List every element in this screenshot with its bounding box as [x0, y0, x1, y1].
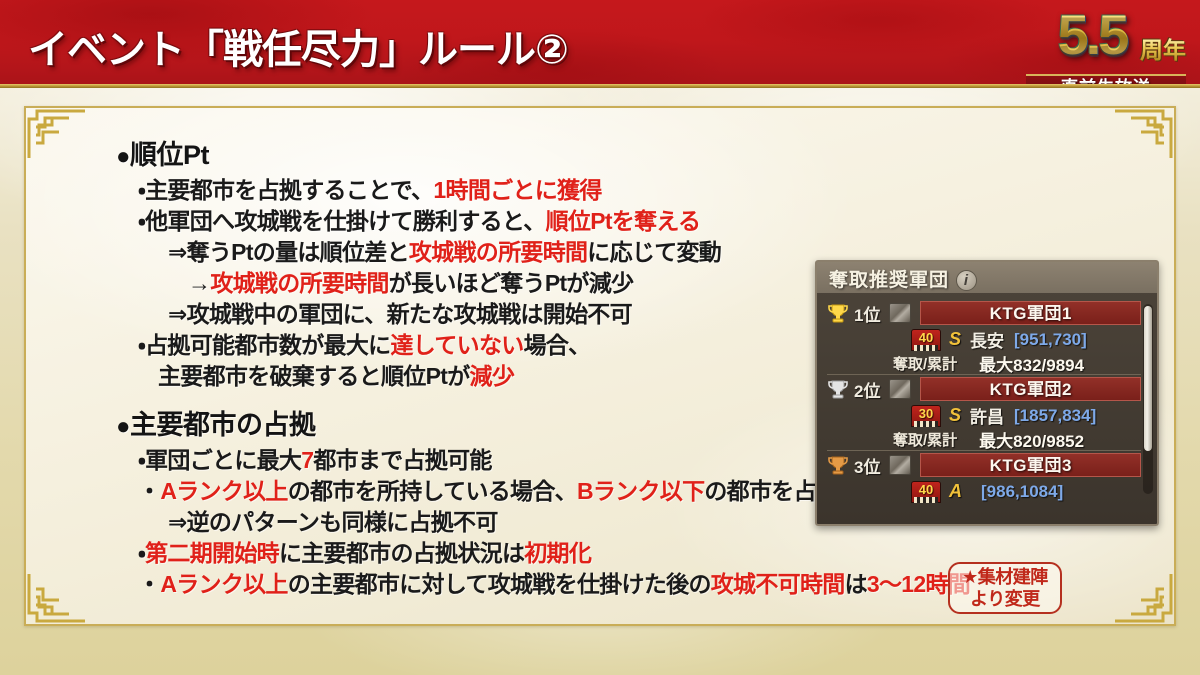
highlighted-text: 攻城戦の所要時間 — [409, 239, 587, 265]
plain-text: 奪うPtの量は順位差と — [187, 239, 409, 265]
legion-flag-icon — [889, 455, 911, 475]
info-icon[interactable]: i — [956, 270, 977, 291]
anniversary-badge: 5.5 周年 直前生放送 — [1012, 2, 1192, 88]
scrollbar[interactable] — [1143, 304, 1153, 494]
rank-label: 2位 — [854, 377, 880, 402]
plain-text: に主要都市の占拠状況は — [279, 540, 524, 566]
ranking-row[interactable]: 2位KTG軍団230S許昌[1857,834]奪取/累計最大820/9852 — [827, 375, 1141, 451]
plain-text: 攻城戦中の軍団に、新たな攻城戦は開始不可 — [187, 301, 632, 327]
rank-label: 1位 — [854, 301, 880, 326]
plain-text: 主要都市を破棄すると順位Ptが — [158, 363, 470, 389]
trophy-icon — [827, 455, 849, 476]
ornament-corner-bottom-right-icon — [1111, 573, 1175, 625]
city-coordinates: [986,1084] — [981, 482, 1063, 502]
stat-value: 最大820/9852 — [979, 427, 1084, 452]
highlighted-text: 順位Ptを奪える — [546, 208, 701, 234]
city-grade: S — [949, 405, 961, 426]
anniversary-subtitle: 直前生放送 — [1026, 74, 1186, 88]
ranking-row[interactable]: 3位KTG軍団340A[986,1084] — [827, 451, 1141, 526]
plain-text: 軍団ごとに最大 — [145, 447, 301, 473]
plain-text: は — [845, 571, 867, 597]
rule-line: ・Aランク以上の都市を所持している場合、Bランク以下の都市を占拠できない — [116, 476, 876, 507]
highlighted-text: 達していない — [390, 332, 523, 358]
section-heading-text: 主要都市の占拠 — [130, 410, 316, 440]
plain-text: が長いほど奪うPtが減少 — [389, 270, 634, 296]
city-level-badge-icon: 40 — [911, 481, 941, 503]
game-ranking-card: 奪取推奨軍団i 1位KTG軍団140S長安[951,730]奪取/累計最大832… — [815, 260, 1159, 526]
highlighted-text: 第二期開始時 — [145, 540, 279, 566]
ornament-corner-top-right-icon — [1111, 107, 1175, 159]
highlighted-text: 攻城不可時間 — [711, 571, 845, 597]
legion-name[interactable]: KTG軍団2 — [920, 377, 1141, 401]
rule-line: 主要都市を破棄すると順位Ptが減少 — [116, 361, 876, 392]
city-coordinates: [951,730] — [1014, 330, 1087, 350]
rule-line: ・第二期開始時に主要都市の占拠状況は初期化 — [116, 538, 876, 569]
rules-content: ●順位Pt・主要都市を占拠することで、1時間ごとに獲得・他軍団へ攻城戦を仕掛けて… — [116, 133, 876, 600]
page-header: イベント「戦任尽力」ルール② 5.5 周年 直前生放送 — [0, 0, 1200, 88]
city-name: 長安 — [970, 327, 1004, 352]
anniversary-suffix: 周年 — [1140, 38, 1186, 62]
city-level-badge-icon: 30 — [911, 405, 941, 427]
ornament-corner-top-left-icon — [25, 107, 89, 159]
trophy-icon — [827, 379, 849, 400]
line-bullet-icon: ・ — [138, 478, 160, 504]
highlighted-text: 攻城戦の所要時間 — [210, 270, 388, 296]
rule-line: ・占拠可能都市数が最大に達していない場合、 — [116, 330, 876, 361]
change-note-badge-1: ★集材建陣 より変更 — [948, 562, 1062, 614]
line-bullet-icon: ⇒ — [168, 301, 187, 327]
line-bullet-icon: ・ — [138, 571, 160, 597]
rule-line: ⇒奪うPtの量は順位差と攻城戦の所要時間に応じて変動 — [116, 237, 876, 268]
legion-name[interactable]: KTG軍団1 — [920, 301, 1141, 325]
page-body: ●順位Pt・主要都市を占拠することで、1時間ごとに獲得・他軍団へ攻城戦を仕掛けて… — [0, 88, 1200, 675]
plain-text: 逆のパターンも同様に占拠不可 — [187, 509, 498, 535]
rule-line: →攻城戦の所要時間が長いほど奪うPtが減少 — [116, 268, 876, 299]
highlighted-text: 1時間ごとに獲得 — [433, 177, 601, 203]
highlighted-text: 初期化 — [524, 540, 591, 566]
city-level-badge-icon: 40 — [911, 329, 941, 351]
rule-line: ・軍団ごとに最大7都市まで占拠可能 — [116, 445, 876, 476]
trophy-icon — [827, 303, 849, 324]
section-heading-text: 順位Pt — [130, 140, 209, 170]
line-bullet-icon: ⇒ — [168, 239, 187, 265]
plain-text: の主要都市に対して攻城戦を仕掛けた後の — [288, 571, 711, 597]
rule-line: ・他軍団へ攻城戦を仕掛けて勝利すると、順位Ptを奪える — [116, 206, 876, 237]
badge-line-1: ★集材建陣 — [955, 566, 1055, 588]
stat-label: 奪取/累計 — [893, 353, 957, 374]
plain-text: 場合、 — [524, 332, 591, 358]
plain-text: に応じて変動 — [587, 239, 721, 265]
legion-flag-icon — [889, 303, 911, 323]
rule-line: ・Aランク以上の主要都市に対して攻城戦を仕掛けた後の攻城不可時間は3～12時間 — [116, 569, 876, 600]
stat-label: 奪取/累計 — [893, 429, 957, 450]
rule-line: ・主要都市を占拠することで、1時間ごとに獲得 — [116, 175, 876, 206]
highlighted-text: 減少 — [470, 363, 515, 389]
section-heading: ●順位Pt — [116, 133, 876, 172]
section-bullet-icon: ● — [116, 143, 130, 170]
plain-text: 他軍団へ攻城戦を仕掛けて勝利すると、 — [145, 208, 545, 234]
plain-text: の都市を所持している場合、 — [288, 478, 577, 504]
section-bullet-icon: ● — [116, 413, 130, 440]
page-title: イベント「戦任尽力」ルール② — [28, 17, 568, 75]
highlighted-text: Bランク以下 — [577, 478, 704, 504]
city-grade: A — [949, 481, 962, 502]
rank-label: 3位 — [854, 453, 880, 478]
badge-line-2: より変更 — [955, 588, 1055, 610]
legion-flag-icon — [889, 379, 911, 399]
plain-text: 主要都市を占拠することで、 — [145, 177, 433, 203]
line-bullet-icon: → — [188, 270, 210, 296]
game-card-title: 奪取推奨軍団 — [829, 270, 949, 291]
city-name: 許昌 — [970, 403, 1004, 428]
highlighted-text: Aランク以上 — [160, 478, 287, 504]
legion-name[interactable]: KTG軍団3 — [920, 453, 1141, 477]
rule-line: ⇒逆のパターンも同様に占拠不可 — [116, 507, 876, 538]
section-heading: ●主要都市の占拠 — [116, 403, 876, 442]
plain-text: 都市まで占拠可能 — [313, 447, 491, 473]
ranking-row[interactable]: 1位KTG軍団140S長安[951,730]奪取/累計最大832/9894 — [827, 299, 1141, 375]
highlighted-text: 7 — [301, 447, 313, 473]
scrollbar-thumb[interactable] — [1144, 306, 1152, 451]
rule-line: ⇒攻城戦中の軍団に、新たな攻城戦は開始不可 — [116, 299, 876, 330]
line-bullet-icon: ⇒ — [168, 509, 187, 535]
city-coordinates: [1857,834] — [1014, 406, 1096, 426]
ornament-corner-bottom-left-icon — [25, 573, 89, 625]
game-card-header: 奪取推奨軍団i — [817, 262, 1157, 293]
ranking-list: 1位KTG軍団140S長安[951,730]奪取/累計最大832/98942位K… — [817, 293, 1157, 526]
city-grade: S — [949, 329, 961, 350]
highlighted-text: Aランク以上 — [160, 571, 287, 597]
stat-value: 最大832/9894 — [979, 351, 1084, 376]
plain-text: 占拠可能都市数が最大に — [145, 332, 390, 358]
